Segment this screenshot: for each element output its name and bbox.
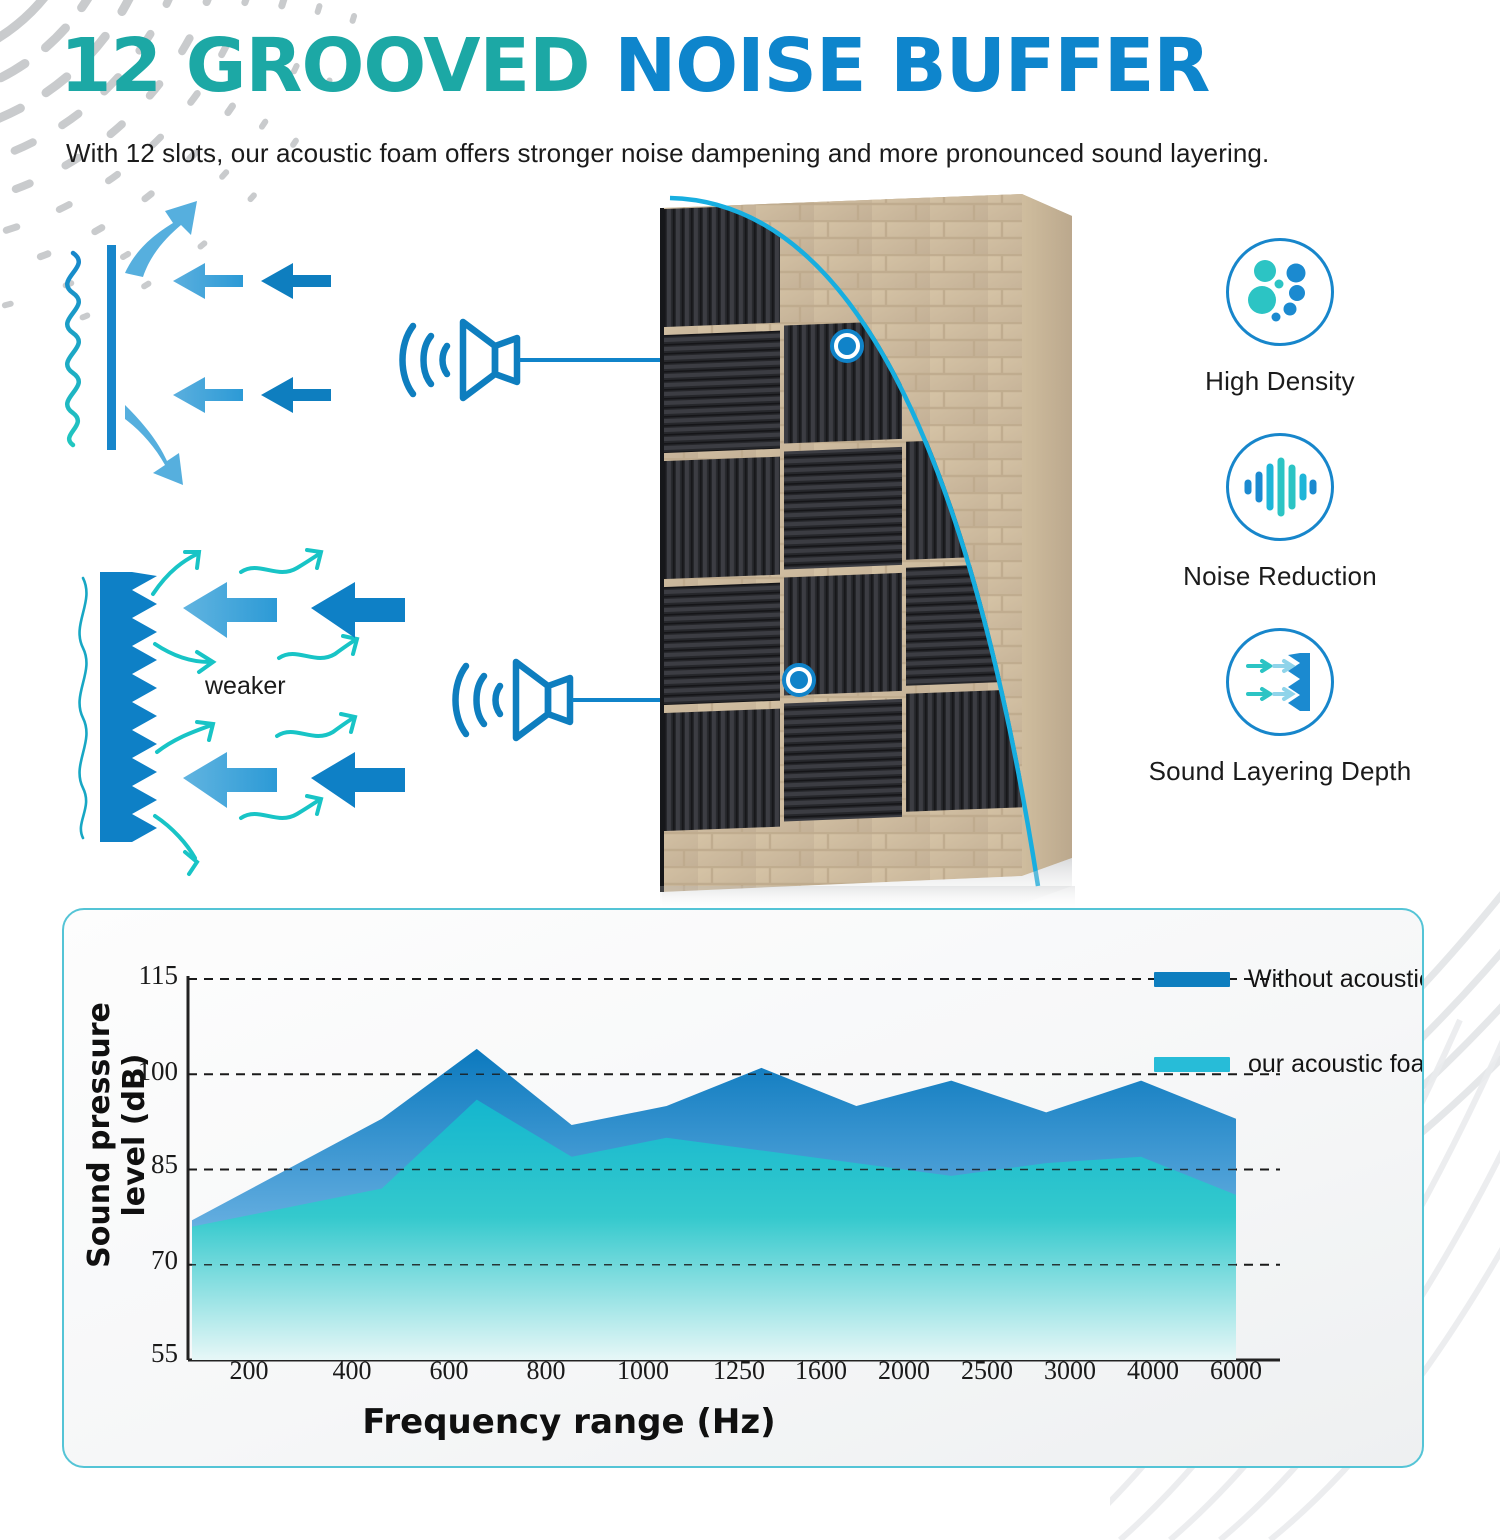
arrow-left-icon (173, 377, 243, 413)
sound-layering-icon (1242, 649, 1318, 715)
speaker-icon (548, 678, 570, 722)
legend-item[interactable]: our acoustic foam (1154, 1050, 1424, 1079)
speaker-icon (516, 662, 548, 738)
speaker-icon (456, 666, 501, 734)
title-part-teal: 12 GROOVED (60, 23, 590, 109)
legend-label: our acoustic foam (1248, 1050, 1424, 1079)
callout-dot-icon (832, 331, 862, 361)
speaker-icon (495, 338, 517, 382)
arrow-left-icon (173, 263, 243, 299)
chart-legend: Without acoustic foam our acoustic foam (1154, 965, 1424, 1135)
feature-icon-circle (1226, 628, 1334, 736)
feature-label: High Density (1110, 366, 1450, 397)
audio-waveform-icon (1242, 457, 1318, 517)
legend-label: Without acoustic foam (1248, 965, 1424, 994)
arrow-left-icon (311, 752, 405, 808)
foam-tiles (662, 186, 1070, 886)
feature-icon-circle (1226, 433, 1334, 541)
legend-item[interactable]: Without acoustic foam (1154, 965, 1424, 994)
feature-noise-reduction[interactable]: Noise Reduction (1110, 433, 1450, 592)
infographic-canvas: 12 GROOVED NOISE BUFFER With 12 slots, o… (0, 0, 1500, 1500)
curved-arrow-icon (125, 405, 183, 485)
feature-label: Sound Layering Depth (1110, 756, 1450, 787)
arrow-left-icon (183, 582, 277, 638)
feature-label: Noise Reduction (1110, 561, 1450, 592)
arrow-left-icon (261, 263, 331, 299)
sound-wave-icon (80, 578, 87, 838)
legend-swatch (1154, 1057, 1230, 1072)
feature-list: High Density Noise Reduction (1110, 238, 1450, 805)
squiggle-arrow-icon (155, 714, 355, 874)
arrow-left-icon (311, 582, 405, 638)
curved-arrow-icon (125, 201, 197, 277)
sound-wave-icon (67, 253, 79, 445)
callout-dot-icon (784, 665, 814, 695)
title-part-blue: NOISE BUFFER (614, 23, 1209, 109)
flat-wall-icon (107, 245, 116, 450)
feature-high-density[interactable]: High Density (1110, 238, 1450, 397)
page-title: 12 GROOVED NOISE BUFFER (60, 28, 1209, 105)
legend-swatch (1154, 972, 1230, 987)
feature-icon-circle (1226, 238, 1334, 346)
page-subtitle: With 12 slots, our acoustic foam offers … (66, 138, 1269, 169)
chart: Sound pressure level (dB) Frequency rang… (64, 910, 1422, 1466)
grooved-surface-absorption-diagram (45, 540, 465, 880)
weaker-label: weaker (205, 672, 286, 701)
wedge-wall-icon (100, 572, 157, 842)
arrow-left-icon (261, 377, 331, 413)
acoustic-foam-panel (640, 186, 1090, 916)
speaker-icon (403, 326, 448, 394)
arrow-left-icon (183, 752, 277, 808)
speaker-icon (463, 322, 495, 398)
chart-card: Sound pressure level (dB) Frequency rang… (62, 908, 1424, 1468)
density-dots-icon (1243, 255, 1317, 329)
feature-sound-layering-depth[interactable]: Sound Layering Depth (1110, 628, 1450, 787)
